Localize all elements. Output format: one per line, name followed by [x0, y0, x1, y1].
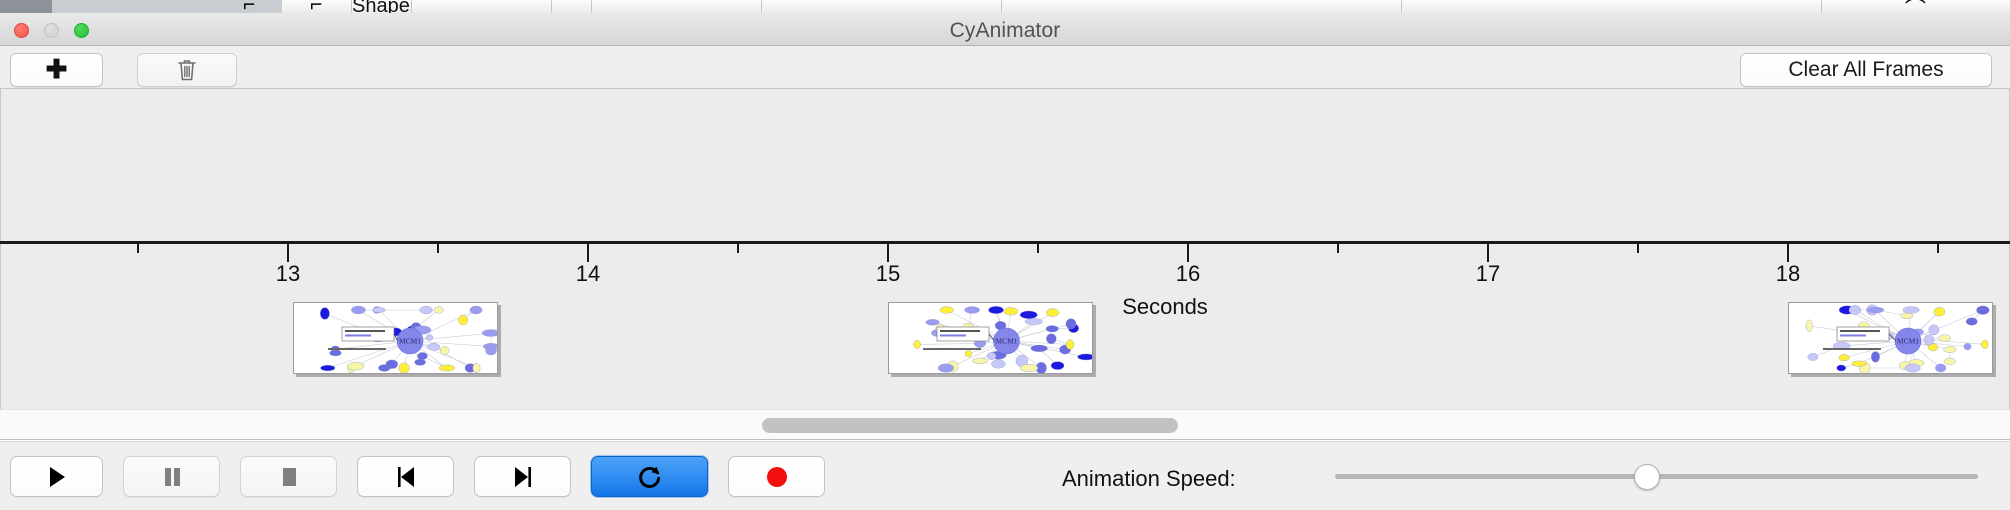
axis-tick-minor: [1337, 244, 1339, 253]
skip-forward-icon: [510, 465, 536, 489]
add-frame-button[interactable]: ✚: [10, 53, 103, 87]
cyanimator-window: ⌐ ⌐ Shape ⌒ CyAnimator ✚ Clear All Frame…: [0, 0, 2010, 510]
delete-frame-button[interactable]: [137, 53, 237, 87]
axis-tick-label: 17: [1476, 261, 1500, 287]
loop-button[interactable]: [591, 456, 708, 497]
background-chip: [552, 0, 592, 14]
axis-tick-minor: [437, 244, 439, 253]
background-chip: [592, 0, 762, 14]
axis-tick-label: 16: [1176, 261, 1200, 287]
record-button[interactable]: [728, 456, 825, 497]
background-glyph: ⌒: [1905, 0, 1926, 14]
axis-tick-major: [1187, 244, 1189, 262]
animation-speed-label: Animation Speed:: [1062, 466, 1236, 492]
background-window-label: Shape: [352, 0, 410, 14]
clear-all-frames-label: Clear All Frames: [1788, 58, 1943, 82]
scrollbar-thumb[interactable]: [762, 418, 1178, 433]
background-glyph: ⌐: [310, 0, 322, 14]
play-icon: [46, 465, 68, 489]
axis-tick-major: [587, 244, 589, 262]
plus-icon: ✚: [46, 56, 68, 82]
stop-button[interactable]: [240, 456, 337, 497]
background-chip: [1402, 0, 1822, 14]
record-icon: [765, 465, 789, 489]
axis-tick-label: 14: [576, 261, 600, 287]
svg-text:MCM1: MCM1: [995, 337, 1017, 346]
axis-tick-minor: [737, 244, 739, 253]
background-chip: [412, 0, 552, 14]
timeline-panel[interactable]: MCM1MCM1MCM1 12131415161718 Seconds: [0, 89, 2010, 409]
pause-button[interactable]: [123, 456, 220, 497]
play-button[interactable]: [10, 456, 103, 497]
background-window-strip: ⌐ ⌐ Shape ⌒: [0, 0, 2010, 14]
timeline-frame-thumbnail[interactable]: MCM1: [293, 302, 498, 374]
title-bar: CyAnimator: [0, 13, 2010, 46]
network-graph: MCM1: [1789, 303, 1993, 374]
timeline-frame-thumbnail[interactable]: MCM1: [1788, 302, 1993, 374]
axis-tick-minor: [1637, 244, 1639, 253]
network-graph: MCM1: [889, 303, 1093, 374]
skip-back-icon: [393, 465, 419, 489]
playback-controls: Animation Speed:: [0, 441, 2010, 510]
axis-tick-major: [1787, 244, 1789, 262]
svg-text:MCM1: MCM1: [399, 337, 421, 346]
stop-icon: [278, 465, 300, 489]
axis-tick-label: 15: [876, 261, 900, 287]
toolbar: ✚ Clear All Frames: [0, 46, 2010, 89]
pause-icon: [161, 465, 183, 489]
axis-tick-label: 13: [276, 261, 300, 287]
skip-start-button[interactable]: [357, 456, 454, 497]
axis-tick-minor: [137, 244, 139, 253]
axis-tick-minor: [1037, 244, 1039, 253]
trash-icon: [176, 58, 198, 82]
axis-tick-minor: [1937, 244, 1939, 253]
timeline-scrollbar[interactable]: [0, 409, 2010, 440]
background-toolbar-dark: [0, 0, 52, 13]
window-title: CyAnimator: [0, 19, 2010, 43]
background-chip: [762, 0, 1002, 14]
timeline-axis: [0, 241, 2010, 244]
axis-title: Seconds: [1122, 294, 1208, 320]
axis-tick-major: [1487, 244, 1489, 262]
axis-tick-major: [287, 244, 289, 262]
axis-tick-label: 18: [1776, 261, 1800, 287]
background-glyph: ⌐: [243, 0, 255, 14]
clear-all-frames-button[interactable]: Clear All Frames: [1740, 53, 1992, 87]
timeline-frame-thumbnail[interactable]: MCM1: [888, 302, 1093, 374]
loop-icon: [636, 463, 664, 491]
background-chip: [1002, 0, 1402, 14]
svg-text:MCM1: MCM1: [1897, 337, 1919, 346]
network-graph: MCM1: [294, 303, 498, 374]
timeline-left-border: [0, 89, 1, 409]
animation-speed-slider-thumb[interactable]: [1634, 464, 1660, 490]
skip-end-button[interactable]: [474, 456, 571, 497]
axis-tick-major: [887, 244, 889, 262]
